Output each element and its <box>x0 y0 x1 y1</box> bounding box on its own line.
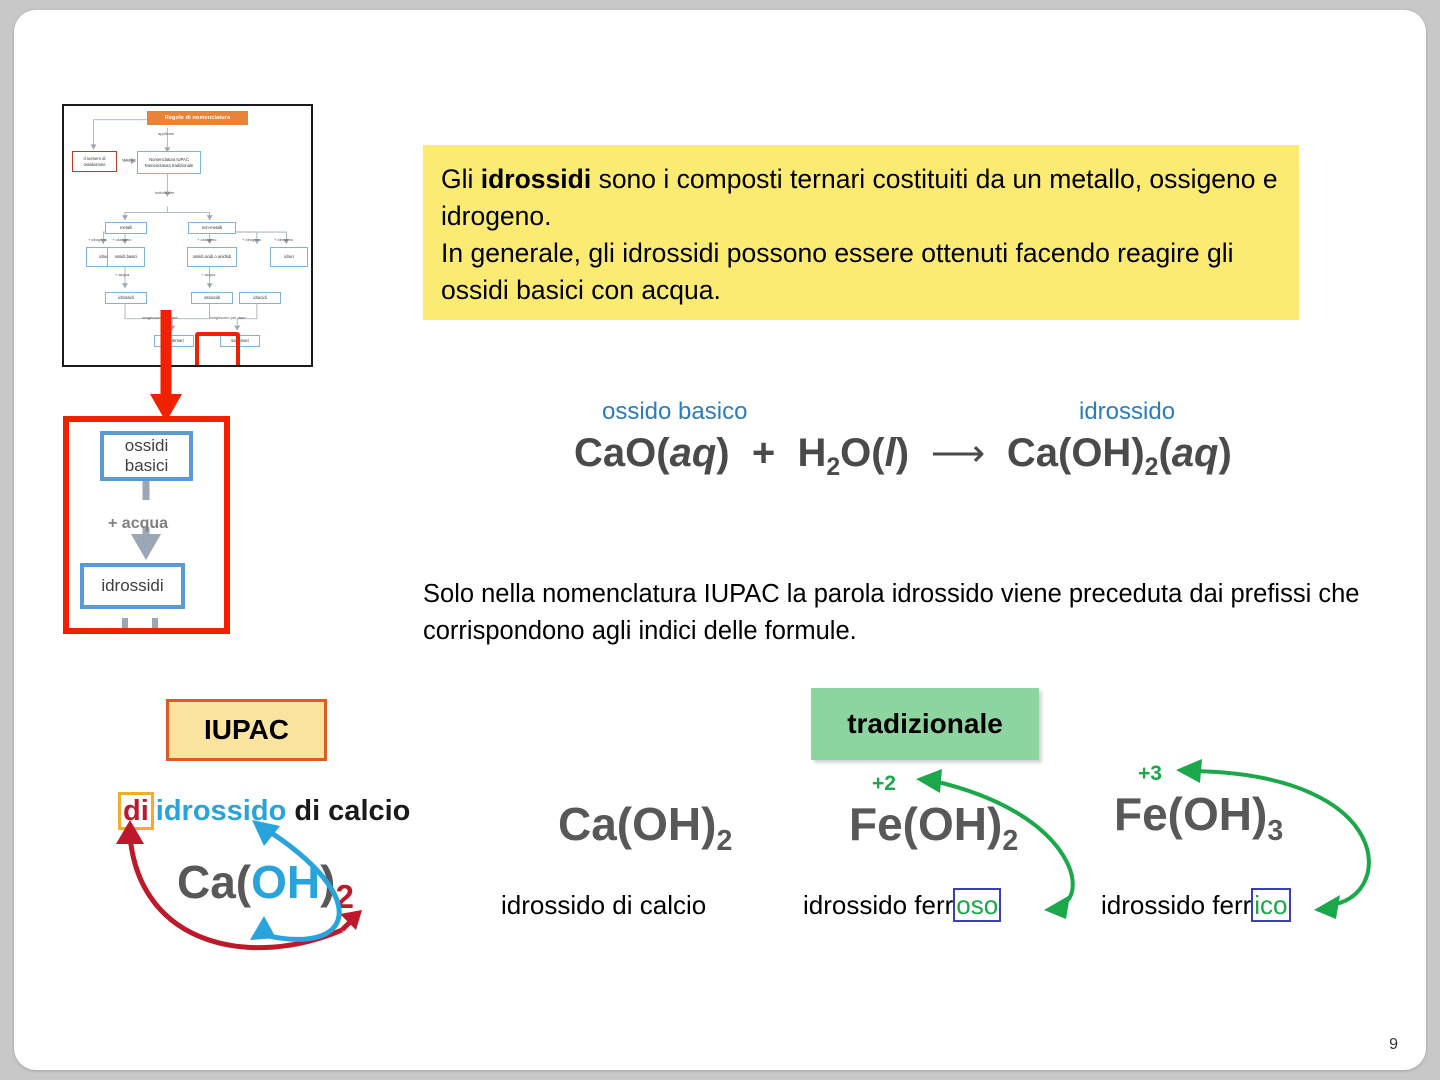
thumb-box-numero-ossidazione: Il numero di ossidazione <box>72 151 117 172</box>
traditional-formula-calcium-main: Ca(OH) <box>558 798 716 850</box>
iupac-annotation-arrows <box>104 780 404 965</box>
detail-ossidi-basici-label: ossidi basici <box>104 436 189 475</box>
detail-idrossidi-label: idrossidi <box>101 576 163 596</box>
thumb-label-idrogeno-3: + idrogeno <box>274 237 293 242</box>
thumb-box-idracidi: idracidi <box>239 292 281 304</box>
equation-plus-sign: + <box>741 431 787 475</box>
oxidation-annotation-arrows <box>874 755 1394 930</box>
traditional-name-calcium: idrossido di calcio <box>501 890 706 921</box>
detail-box-ossidi-basici: ossidi basici <box>100 431 193 481</box>
reaction-equation-block: ossido basico idrossido CaO(aq) + H2O(l)… <box>574 398 1314 503</box>
callout-line1-prefix: Gli <box>441 164 481 194</box>
thumb-label-ossigeno-2: + ossigeno <box>197 237 216 242</box>
thumb-label-ossigeno-1: + ossigeno <box>112 237 131 242</box>
thumb-title: Regole di nomenclatura <box>147 111 248 125</box>
thumb-box-ossidi-acidi: ossidi acidi o anidridi <box>187 247 237 267</box>
thumb-label-stabilire: stabilire <box>122 157 136 162</box>
thumb-box-metalli: metalli <box>105 222 147 234</box>
thumb-label-acqua-2: + acqua <box>201 272 215 277</box>
callout-paragraph: Gli idrossidi sono i composti ternari co… <box>441 161 1281 309</box>
zoomed-detail-panel: ossidi basici + acqua idrossidi <box>63 416 230 634</box>
explanatory-paragraph: Solo nella nomenclatura IUPAC la parola … <box>423 576 1363 650</box>
equation-line: CaO(aq) + H2O(l) ⟶ Ca(OH)2(aq) <box>574 431 1314 482</box>
slide-canvas: Regole di nomenclatura applicare Il nume… <box>14 10 1426 1070</box>
equation-reactant-2: H2O(l) <box>797 431 909 475</box>
page-number: 9 <box>1389 1036 1398 1054</box>
thumb-label-applicare: applicare <box>158 131 174 136</box>
detail-label-plus-acqua: + acqua <box>108 515 168 533</box>
iupac-label-box: IUPAC <box>166 699 327 761</box>
equation-caption-left: ossido basico <box>602 398 747 426</box>
thumb-label-idrogeno-2: + idrogeno <box>242 237 261 242</box>
callout-bold-term: idrossidi <box>481 164 591 194</box>
traditional-formula-calcium-sub: 2 <box>716 825 732 857</box>
traditional-label-box: tradizionale <box>811 688 1039 760</box>
detail-box-idrossidi: idrossidi <box>80 563 185 609</box>
callout-line2: In generale, gli idrossidi possono esser… <box>441 238 1234 305</box>
traditional-formula-calcium: Ca(OH)2 <box>558 797 732 858</box>
definition-callout: Gli idrossidi sono i composti ternari co… <box>423 145 1299 320</box>
equation-reactant-1: CaO(aq) <box>574 431 730 475</box>
thumb-label-acqua-1: + acqua <box>115 272 129 277</box>
thumb-box-ossiacidi: ossiacidi <box>191 292 233 304</box>
thumb-label-individuare: individuare <box>155 190 174 195</box>
thumb-box-idrossidi: idrossidi <box>105 292 147 304</box>
thumb-box-idruri-right: idruri <box>270 247 308 267</box>
equation-product: Ca(OH)2(aq) <box>1007 431 1232 475</box>
equation-arrow-icon: ⟶ <box>920 433 996 475</box>
equation-caption-right: idrossido <box>1079 398 1175 426</box>
thumb-box-nomenclatura: Nomenclatura IUPAC Nomenclatura tradizio… <box>137 151 201 174</box>
thumb-box-ossidi-basici: ossidi basici <box>107 247 145 267</box>
traditional-name-calcium-text: idrossido di calcio <box>501 890 706 920</box>
thumb-label-idrogeno-1: + idrogeno <box>88 237 107 242</box>
thumb-box-non-metalli: non-metalli <box>188 222 236 234</box>
